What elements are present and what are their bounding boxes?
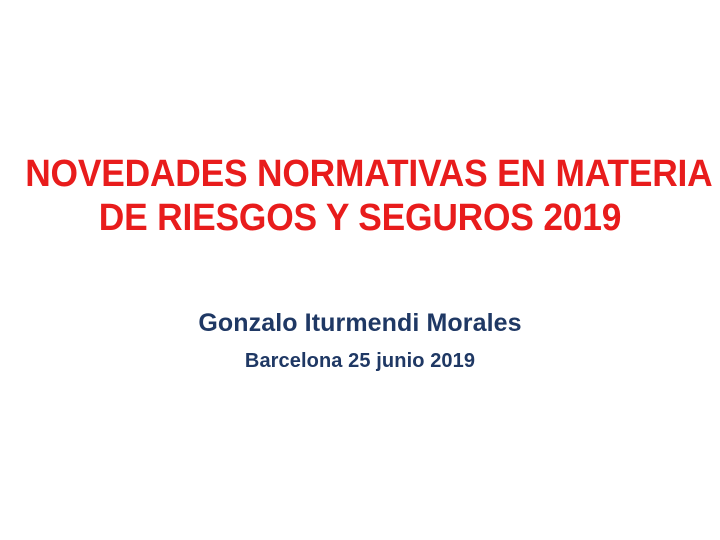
slide-subtitle: Gonzalo Iturmendi Morales Barcelona 25 j… — [0, 306, 720, 375]
slide-title: NOVEDADES NORMATIVAS EN MATERIA DE RIESG… — [0, 152, 720, 240]
presenter-name: Gonzalo Iturmendi Morales — [0, 306, 720, 340]
slide-title-line-1: NOVEDADES NORMATIVAS EN MATERIA — [25, 152, 695, 196]
presentation-title-slide: NOVEDADES NORMATIVAS EN MATERIA DE RIESG… — [0, 0, 720, 540]
event-place-and-date: Barcelona 25 junio 2019 — [0, 348, 720, 375]
slide-title-line-2: DE RIESGOS Y SEGUROS 2019 — [25, 196, 695, 240]
